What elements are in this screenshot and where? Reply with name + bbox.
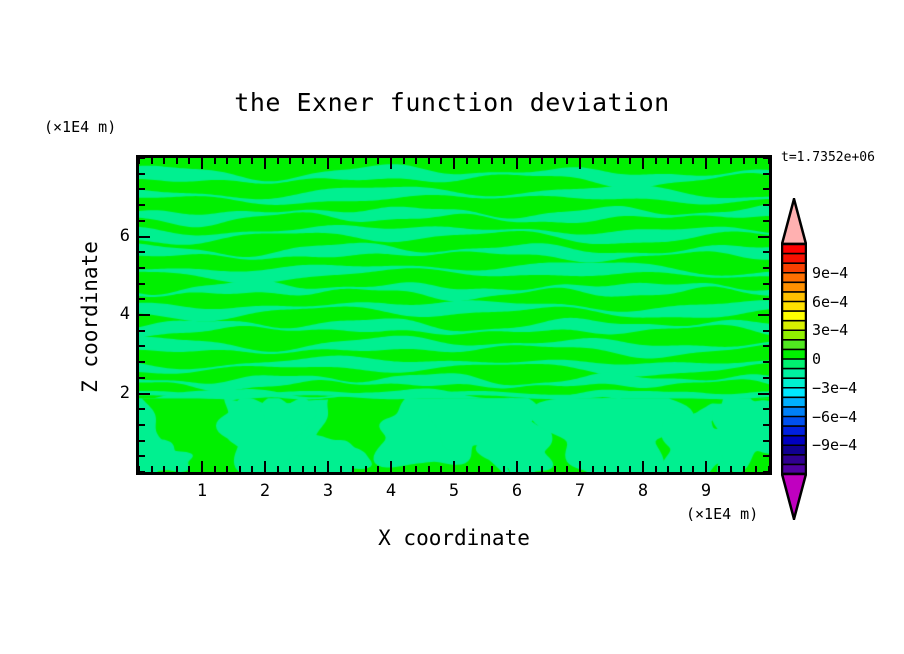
y-tick-right — [758, 236, 769, 238]
colorbar-under-cap — [782, 474, 806, 519]
colorbar-band — [782, 292, 806, 302]
x-tick-top — [655, 158, 657, 164]
y-tick-right — [763, 157, 769, 159]
x-tick-bottom — [302, 466, 304, 472]
x-tick-bottom — [314, 466, 316, 472]
y-tick-right — [763, 188, 769, 190]
y-tick-left — [139, 173, 145, 175]
x-tick-bottom — [541, 466, 543, 472]
x-tick-bottom — [718, 466, 720, 472]
x-tick-label: 5 — [434, 481, 474, 501]
x-tick-top — [314, 158, 316, 164]
x-tick-bottom — [692, 466, 694, 472]
y-tick-right — [763, 251, 769, 253]
plot-area — [136, 155, 772, 475]
x-tick-top — [604, 158, 606, 164]
y-tick-left — [139, 283, 145, 285]
colorbar-band — [782, 417, 806, 427]
x-tick-bottom — [289, 466, 291, 472]
y-tick-left — [139, 267, 145, 269]
y-tick-right — [763, 377, 769, 379]
y-tick-label: 4 — [100, 304, 130, 324]
x-tick-bottom — [226, 466, 228, 472]
colorbar-band — [782, 311, 806, 321]
x-tick-top — [680, 158, 682, 164]
y-tick-right — [763, 220, 769, 222]
x-tick-bottom — [327, 461, 329, 472]
y-axis-unit-label: (×1E4 m) — [44, 118, 116, 136]
colorbar-band — [782, 388, 806, 398]
x-tick-top — [579, 158, 581, 169]
x-tick-bottom — [743, 466, 745, 472]
x-tick-label: 9 — [686, 481, 726, 501]
y-tick-left — [139, 345, 145, 347]
x-tick-top — [352, 158, 354, 164]
y-tick-left — [139, 361, 145, 363]
y-tick-left — [139, 440, 145, 442]
colorbar-band — [782, 378, 806, 388]
y-tick-left — [139, 298, 145, 300]
colorbar-over-cap — [782, 199, 806, 244]
y-tick-right — [763, 471, 769, 473]
x-tick-top — [755, 158, 757, 164]
x-tick-bottom — [239, 466, 241, 472]
x-tick-top — [415, 158, 417, 164]
y-tick-left — [139, 220, 145, 222]
x-tick-bottom — [440, 466, 442, 472]
x-tick-top — [503, 158, 505, 164]
x-tick-bottom — [264, 461, 266, 472]
x-tick-top — [251, 158, 253, 164]
y-tick-left — [139, 314, 150, 316]
x-tick-top — [151, 158, 153, 164]
x-tick-top — [163, 158, 165, 164]
x-tick-top — [302, 158, 304, 164]
x-tick-bottom — [340, 466, 342, 472]
colorbar-tick-label: 9e−4 — [812, 264, 848, 282]
x-tick-bottom — [503, 466, 505, 472]
x-tick-bottom — [188, 466, 190, 472]
y-tick-right — [758, 393, 769, 395]
x-tick-top — [365, 158, 367, 164]
x-tick-top — [214, 158, 216, 164]
colorbar-band — [782, 302, 806, 312]
y-tick-left — [139, 393, 150, 395]
x-tick-bottom — [705, 461, 707, 472]
colorbar-band — [782, 340, 806, 350]
y-tick-right — [763, 361, 769, 363]
x-tick-bottom — [617, 466, 619, 472]
x-tick-bottom — [629, 466, 631, 472]
x-tick-top — [226, 158, 228, 164]
y-tick-right — [763, 455, 769, 457]
x-tick-top — [377, 158, 379, 164]
x-tick-top — [478, 158, 480, 164]
x-tick-top — [239, 158, 241, 164]
x-tick-top — [667, 158, 669, 164]
y-tick-left — [139, 157, 145, 159]
x-tick-bottom — [667, 466, 669, 472]
x-tick-bottom — [680, 466, 682, 472]
x-tick-bottom — [390, 461, 392, 472]
y-tick-right — [763, 267, 769, 269]
x-tick-bottom — [755, 466, 757, 472]
x-tick-bottom — [377, 466, 379, 472]
x-tick-bottom — [453, 461, 455, 472]
x-tick-bottom — [277, 466, 279, 472]
y-tick-right — [763, 204, 769, 206]
colorbar-tick-label: 3e−4 — [812, 321, 848, 339]
x-tick-bottom — [214, 466, 216, 472]
x-tick-top — [566, 158, 568, 164]
x-tick-bottom — [529, 466, 531, 472]
x-tick-top — [743, 158, 745, 164]
y-tick-right — [763, 408, 769, 410]
colorbar-band — [782, 244, 806, 254]
x-tick-bottom — [415, 466, 417, 472]
x-tick-top — [642, 158, 644, 169]
x-tick-top — [692, 158, 694, 164]
y-tick-left — [139, 251, 145, 253]
x-tick-top — [440, 158, 442, 164]
y-tick-left — [139, 188, 145, 190]
x-tick-bottom — [428, 466, 430, 472]
x-tick-bottom — [251, 466, 253, 472]
x-tick-bottom — [516, 461, 518, 472]
y-tick-left — [139, 408, 145, 410]
x-tick-bottom — [365, 466, 367, 472]
y-tick-left — [139, 424, 145, 426]
x-tick-top — [188, 158, 190, 164]
x-tick-bottom — [403, 466, 405, 472]
colorbar-band — [782, 359, 806, 369]
x-tick-label: 7 — [560, 481, 600, 501]
y-tick-left — [139, 471, 145, 473]
x-tick-top — [491, 158, 493, 164]
y-tick-left — [139, 204, 145, 206]
colorbar-tick-label: −6e−4 — [812, 408, 857, 426]
x-tick-bottom — [730, 466, 732, 472]
x-tick-top — [554, 158, 556, 164]
colorbar-tick-label: 6e−4 — [812, 293, 848, 311]
x-tick-bottom — [604, 466, 606, 472]
colorbar — [781, 198, 807, 520]
y-tick-right — [763, 345, 769, 347]
y-tick-right — [763, 424, 769, 426]
x-tick-bottom — [566, 466, 568, 472]
x-tick-top — [541, 158, 543, 164]
x-tick-bottom — [579, 461, 581, 472]
colorbar-band — [782, 436, 806, 446]
x-tick-top — [403, 158, 405, 164]
colorbar-band — [782, 445, 806, 455]
colorbar-band — [782, 369, 806, 379]
colorbar-band — [782, 349, 806, 359]
x-tick-label: 4 — [371, 481, 411, 501]
x-tick-bottom — [201, 461, 203, 472]
x-tick-top — [453, 158, 455, 169]
y-tick-right — [763, 298, 769, 300]
colorbar-tick-label: 0 — [812, 350, 821, 368]
colorbar-band — [782, 397, 806, 407]
x-tick-bottom — [491, 466, 493, 472]
colorbar-band — [782, 282, 806, 292]
x-tick-bottom — [163, 466, 165, 472]
x-tick-top — [277, 158, 279, 164]
y-tick-right — [758, 314, 769, 316]
x-tick-top — [529, 158, 531, 164]
x-tick-label: 6 — [497, 481, 537, 501]
x-tick-label: 2 — [245, 481, 285, 501]
x-tick-top — [516, 158, 518, 169]
colorbar-tick-label: −3e−4 — [812, 379, 857, 397]
x-tick-top — [466, 158, 468, 164]
timestamp-label: t=1.7352e+06 — [781, 150, 875, 165]
x-tick-top — [390, 158, 392, 169]
x-tick-top — [718, 158, 720, 164]
x-tick-top — [705, 158, 707, 169]
colorbar-tick-label: −9e−4 — [812, 436, 857, 454]
x-tick-label: 8 — [623, 481, 663, 501]
y-tick-label: 6 — [100, 226, 130, 246]
x-tick-bottom — [352, 466, 354, 472]
x-axis-title: X coordinate — [136, 526, 772, 550]
x-tick-top — [617, 158, 619, 164]
x-tick-top — [327, 158, 329, 169]
y-tick-right — [763, 173, 769, 175]
x-tick-label: 3 — [308, 481, 348, 501]
x-tick-top — [592, 158, 594, 164]
y-tick-left — [139, 330, 145, 332]
y-tick-right — [763, 330, 769, 332]
y-tick-label: 2 — [100, 383, 130, 403]
x-tick-bottom — [642, 461, 644, 472]
colorbar-band — [782, 321, 806, 331]
x-tick-label: 1 — [182, 481, 222, 501]
x-axis-unit-label: (×1E4 m) — [686, 505, 758, 523]
colorbar-band — [782, 426, 806, 436]
x-tick-top — [428, 158, 430, 164]
x-tick-top — [340, 158, 342, 164]
y-tick-left — [139, 236, 150, 238]
x-tick-top — [730, 158, 732, 164]
colorbar-band — [782, 455, 806, 465]
x-tick-bottom — [466, 466, 468, 472]
x-tick-bottom — [592, 466, 594, 472]
colorbar-band — [782, 273, 806, 283]
x-tick-bottom — [655, 466, 657, 472]
page-title: the Exner function deviation — [0, 88, 904, 117]
colorbar-band — [782, 407, 806, 417]
x-tick-top — [201, 158, 203, 169]
x-tick-top — [176, 158, 178, 164]
x-tick-bottom — [478, 466, 480, 472]
x-tick-bottom — [151, 466, 153, 472]
x-tick-top — [289, 158, 291, 164]
y-axis-title: Z coordinate — [78, 157, 102, 477]
y-tick-left — [139, 455, 145, 457]
x-tick-top — [264, 158, 266, 169]
x-tick-bottom — [176, 466, 178, 472]
y-tick-right — [763, 283, 769, 285]
x-tick-top — [629, 158, 631, 164]
colorbar-band — [782, 330, 806, 340]
colorbar-band — [782, 254, 806, 264]
colorbar-band — [782, 263, 806, 273]
x-tick-bottom — [554, 466, 556, 472]
y-tick-right — [763, 440, 769, 442]
contour-field — [139, 158, 769, 472]
y-tick-left — [139, 377, 145, 379]
